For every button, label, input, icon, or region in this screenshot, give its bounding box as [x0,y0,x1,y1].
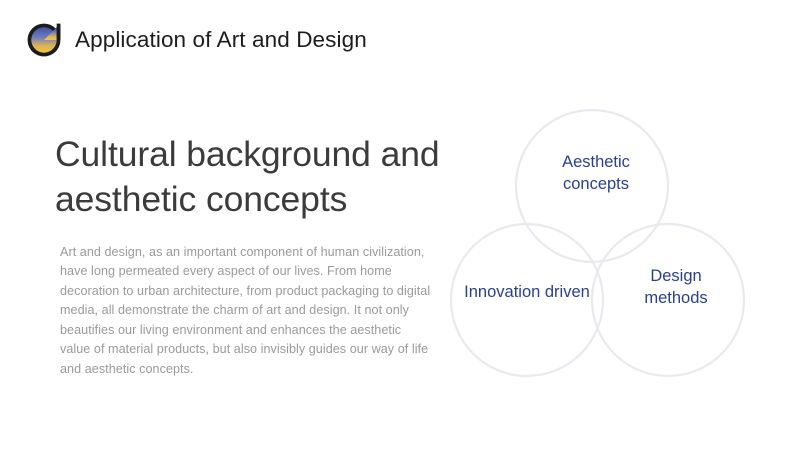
headline-line-1: Cultural background and [55,134,440,174]
slide-header: Application of Art and Design [26,22,367,58]
venn-label-aesthetic-concepts: Aesthetic concepts [516,152,676,196]
venn-label-aesthetic-concepts-line1: Aesthetic [562,153,630,171]
headline-line-2: aesthetic concepts [55,177,495,222]
venn-circles-graphic [440,96,760,392]
venn-label-design-methods-line1: Design [650,267,701,285]
venn-label-aesthetic-concepts-line2: concepts [563,175,629,193]
brand-droplet-logo-icon [26,22,62,58]
body-paragraph: Art and design, as an important componen… [60,243,432,380]
slide-header-title: Application of Art and Design [75,29,367,52]
venn-diagram: Aesthetic concepts Innovation driven Des… [440,96,760,392]
venn-label-design-methods-line2: methods [644,289,707,307]
page-title: Cultural background and aesthetic concep… [55,132,495,223]
venn-label-innovation-driven: Innovation driven [438,282,616,304]
slide-canvas: Application of Art and Design Cultural b… [0,0,804,452]
venn-label-innovation-driven-line1: Innovation driven [464,283,590,301]
venn-label-design-methods: Design methods [608,266,744,310]
